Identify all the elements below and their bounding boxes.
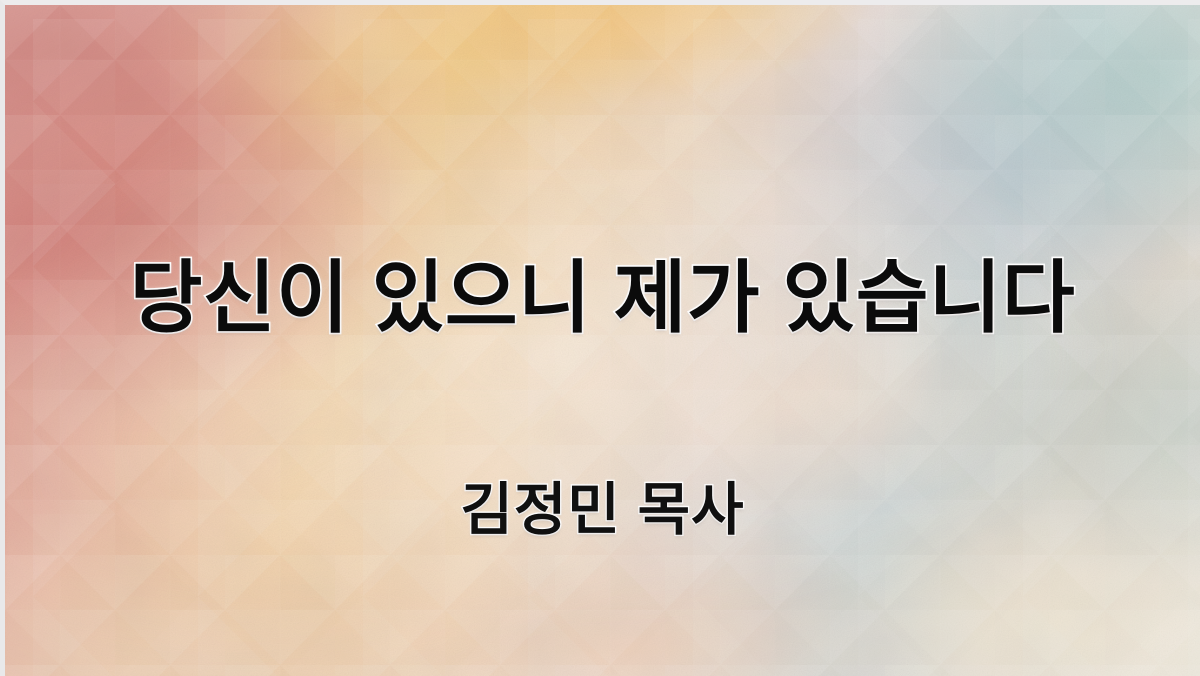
page-title: 당신이 있으니 제가 있습니다: [5, 258, 1200, 337]
speaker-name: 김정민 목사: [5, 482, 1200, 539]
slide-content: 당신이 있으니 제가 있습니다 김정민 목사: [5, 5, 1200, 676]
title-slide: 당신이 있으니 제가 있습니다 김정민 목사: [0, 0, 1200, 676]
